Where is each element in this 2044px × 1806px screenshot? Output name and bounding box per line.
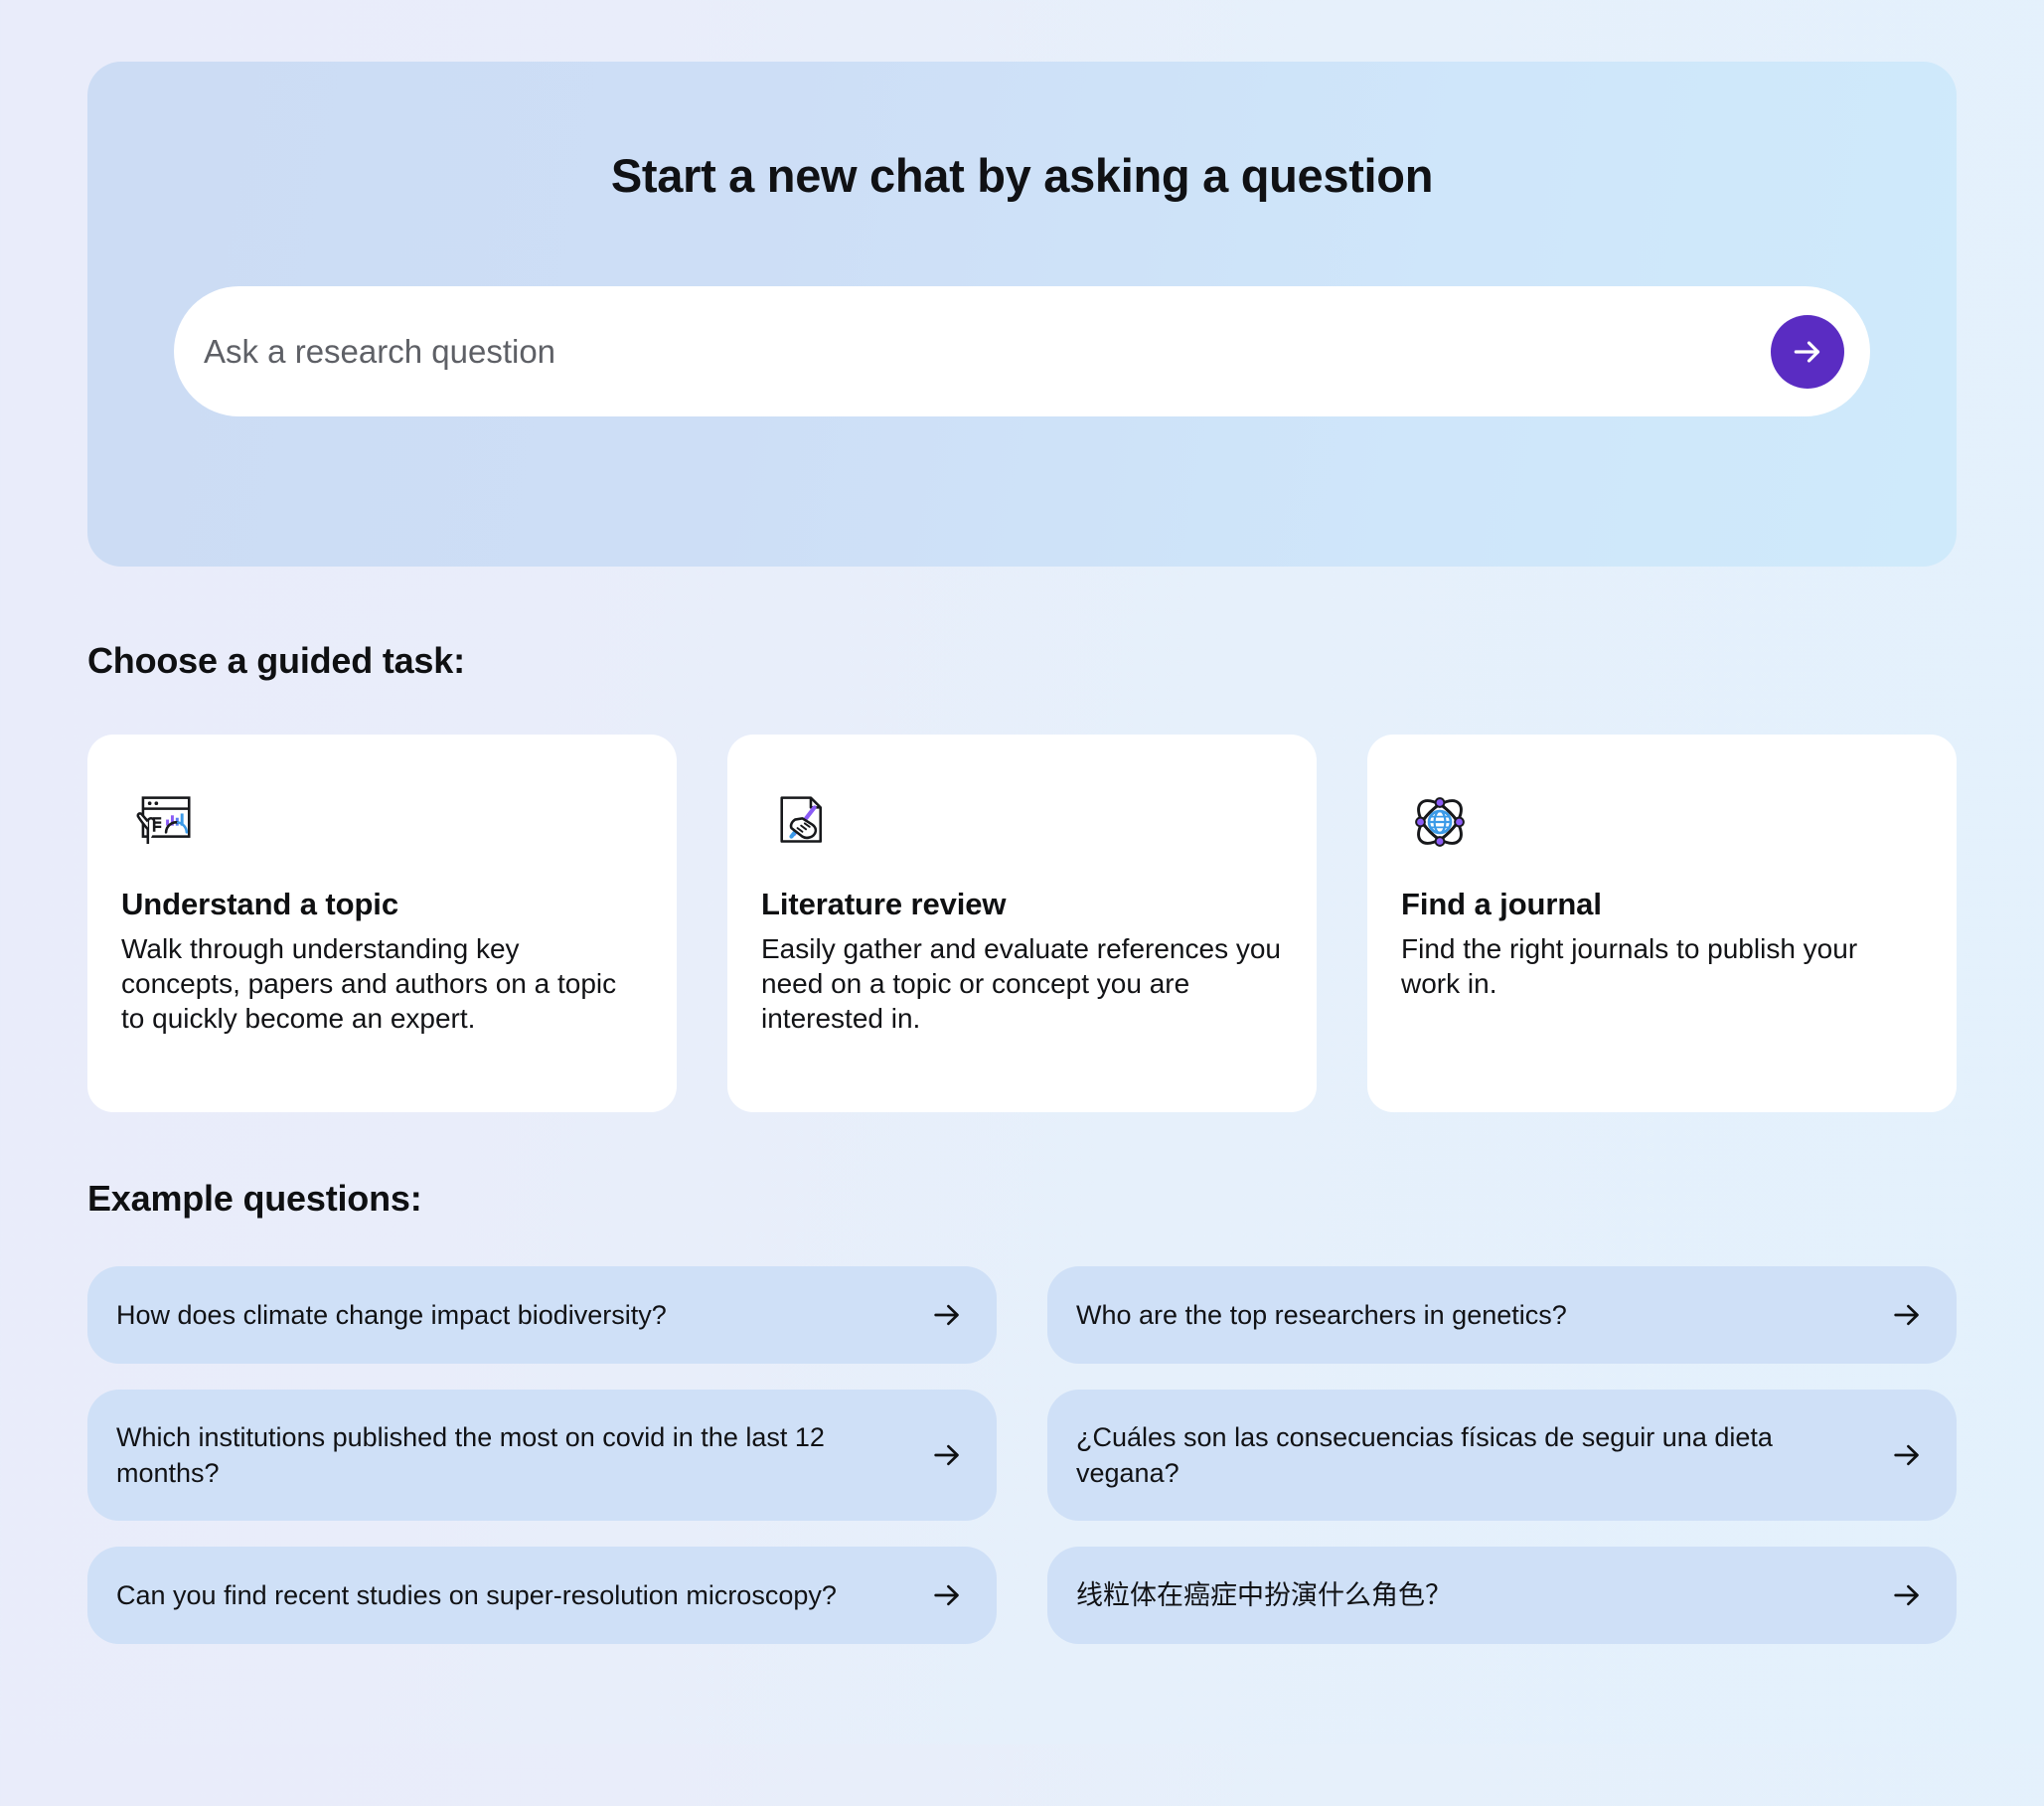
atom-globe-icon [1401,781,1923,863]
arrow-right-icon [1888,1438,1926,1472]
home-page: Start a new chat by asking a question Ch… [0,62,2044,1806]
guided-task-card-understand-a-topic[interactable]: Understand a topic Walk through understa… [87,735,677,1112]
example-question-item[interactable]: How does climate change impact biodivers… [87,1266,997,1364]
arrow-right-icon [928,1438,966,1472]
hero-panel: Start a new chat by asking a question [87,62,1957,567]
arrow-right-icon [1888,1298,1926,1332]
example-question-item[interactable]: ¿Cuáles son las consecuencias físicas de… [1047,1390,1957,1521]
search-input[interactable] [204,333,1771,371]
guided-task-card-list: Understand a topic Walk through understa… [87,735,1957,1112]
arrow-right-icon [928,1578,966,1612]
example-questions-list: How does climate change impact biodivers… [87,1266,1957,1644]
arrow-right-icon [928,1298,966,1332]
card-title: Literature review [761,887,1283,922]
example-question-text: Can you find recent studies on super-res… [116,1577,837,1613]
page-title: Start a new chat by asking a question [611,148,1433,203]
arrow-right-icon [1790,334,1825,370]
example-question-text: How does climate change impact biodivers… [116,1297,667,1333]
example-question-text: Who are the top researchers in genetics? [1076,1297,1567,1333]
search-bar[interactable] [174,286,1870,416]
guided-task-card-literature-review[interactable]: Literature review Easily gather and eval… [727,735,1317,1112]
arrow-right-icon [1888,1578,1926,1612]
card-description: Walk through understanding key concepts,… [121,931,643,1036]
example-question-item[interactable]: Can you find recent studies on super-res… [87,1547,997,1644]
example-question-item[interactable]: Who are the top researchers in genetics? [1047,1266,1957,1364]
search-submit-button[interactable] [1771,315,1844,389]
guided-task-card-find-a-journal[interactable]: Find a journal Find the right journals t… [1367,735,1957,1112]
example-questions-heading: Example questions: [87,1178,1957,1220]
hand-pointing-at-dashboard-icon [121,781,643,863]
card-title: Understand a topic [121,887,643,922]
example-question-text: 线粒体在癌症中扮演什么角色？ [1076,1577,1452,1613]
example-question-text: ¿Cuáles son las consecuencias físicas de… [1076,1419,1870,1492]
card-description: Easily gather and evaluate references yo… [761,931,1283,1036]
example-question-item[interactable]: 线粒体在癌症中扮演什么角色？ [1047,1547,1957,1644]
card-description: Find the right journals to publish your … [1401,931,1923,1001]
hand-writing-on-document-icon [761,781,1283,863]
card-title: Find a journal [1401,887,1923,922]
guided-tasks-heading: Choose a guided task: [87,640,1957,682]
example-question-text: Which institutions published the most on… [116,1419,910,1492]
example-question-item[interactable]: Which institutions published the most on… [87,1390,997,1521]
